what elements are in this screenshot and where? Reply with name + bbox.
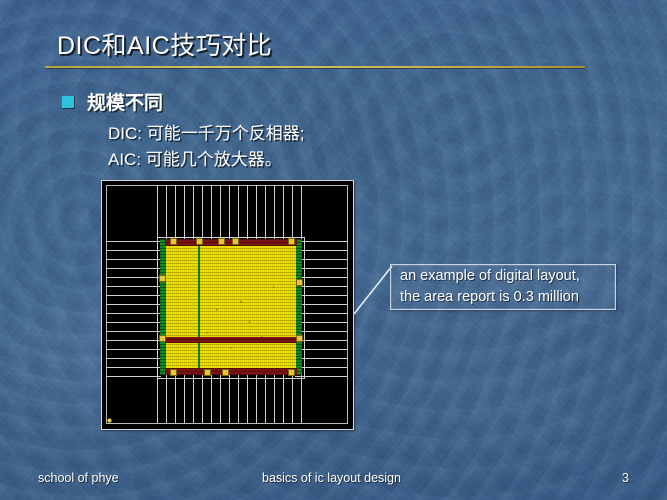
io-pad [204, 369, 211, 376]
footer-left-text: school of phye [38, 471, 119, 485]
io-pad [232, 238, 239, 245]
routing-lines-left [106, 237, 161, 377]
io-pad [222, 369, 229, 376]
page-title: DIC和AIC技巧对比 [57, 26, 272, 62]
die-core [160, 239, 302, 375]
power-rail-right [296, 239, 302, 375]
io-pad [288, 369, 295, 376]
io-pad [170, 238, 177, 245]
power-band-top [165, 239, 297, 246]
sub-line-aic: AIC: 可能几个放大器。 [108, 145, 282, 170]
ic-layout-image [101, 180, 354, 430]
callout-line-1: an example of digital layout, [400, 266, 606, 287]
io-pad [218, 238, 225, 245]
ic-layout-canvas [102, 181, 353, 429]
io-pad [288, 238, 295, 245]
footer-center-text: basics of ic layout design [262, 471, 401, 485]
sub-line-dic: DIC: 可能一千万个反相器; [108, 119, 304, 144]
io-pad [196, 238, 203, 245]
slide: DIC和AIC技巧对比 规模不同 DIC: 可能一千万个反相器; AIC: 可能… [0, 0, 667, 500]
io-pad [296, 279, 303, 286]
square-bullet-icon [62, 96, 74, 108]
callout-line-2: the area report is 0.3 million [400, 287, 606, 308]
slide-footer: school of phye basics of ic layout desig… [0, 462, 667, 500]
origin-marker [106, 417, 113, 424]
bullet-label: 规模不同 [87, 88, 163, 115]
via-speckle-texture [160, 239, 302, 375]
io-pad [159, 275, 166, 282]
power-band-middle [165, 337, 297, 343]
io-pad [170, 369, 177, 376]
title-divider-rule [45, 66, 585, 68]
routing-lines-top [157, 185, 302, 243]
io-pad [296, 335, 303, 342]
io-pad [159, 335, 166, 342]
power-rail-left [160, 239, 166, 375]
footer-page-number: 3 [622, 471, 629, 485]
bullet-item-scale: 规模不同 [62, 88, 163, 115]
callout-box: an example of digital layout, the area r… [390, 264, 616, 310]
power-band-bottom [165, 368, 297, 375]
